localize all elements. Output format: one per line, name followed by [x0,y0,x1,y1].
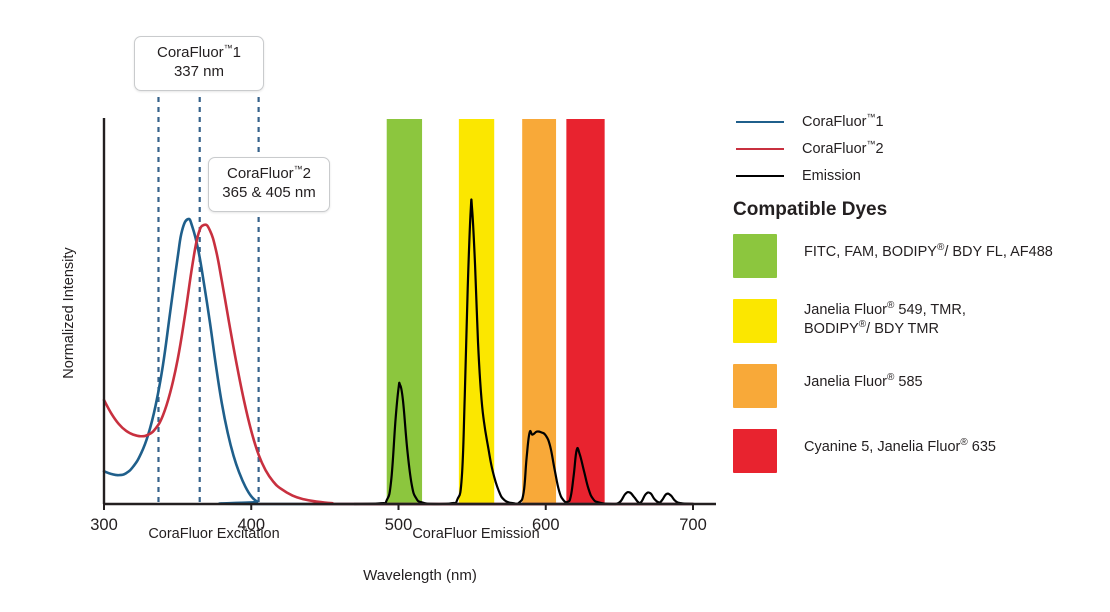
callout-1-line2: 337 nm [147,63,251,82]
dye-item-label: FITC, FAM, BODIPY®/ BDY FL, AF488 [804,234,1053,262]
dye-color-swatch [733,364,777,408]
compatible-dyes-title: Compatible Dyes [733,199,887,221]
dye-item: Janelia Fluor® 549, TMR,BODIPY®/ BDY TMR [733,299,1103,343]
legend-item: CoraFluor™2 [733,135,1093,162]
dye-item-label: Cyanine 5, Janelia Fluor® 635 [804,429,996,457]
green-band [387,119,422,504]
legend-line-swatch [736,175,784,177]
callout-2-line2: 365 & 405 nm [221,184,317,203]
legend-item: CoraFluor™1 [733,108,1093,135]
dye-color-swatch [733,429,777,473]
axis-section-excitation: CoraFluor Excitation [118,526,310,542]
callout-corafluor2: CoraFluor™2 365 & 405 nm [208,157,330,212]
legend-item-label: Emission [802,168,861,184]
x-tick-label-700: 700 [679,516,707,534]
legend-line-swatch [736,148,784,150]
dye-color-swatch [733,299,777,343]
series-legend: CoraFluor™1CoraFluor™2Emission [733,108,1093,189]
legend-line-swatch [736,121,784,123]
dye-item: FITC, FAM, BODIPY®/ BDY FL, AF488 [733,234,1103,278]
x-tick-label-300: 300 [90,516,118,534]
legend-item-label: CoraFluor™1 [802,114,884,130]
dye-item-label: Janelia Fluor® 549, TMR,BODIPY®/ BDY TMR [804,299,966,339]
y-axis-title: Normalized Intensity [61,218,77,408]
callout-1-line1: CoraFluor™1 [147,44,251,63]
red-band [566,119,604,504]
spectra-chart: 300400500600700 CoraFluor™1 337 nm CoraF… [0,0,730,612]
callout-corafluor1: CoraFluor™1 337 nm [134,36,264,91]
legend-item: Emission [733,162,1093,189]
chart-canvas: 300400500600700 [0,0,730,612]
axis-section-emission: CoraFluor Emission [380,526,572,542]
dye-color-swatch [733,234,777,278]
legend-item-label: CoraFluor™2 [802,141,884,157]
callout-2-line1: CoraFluor™2 [221,165,317,184]
dye-item-label: Janelia Fluor® 585 [804,364,923,392]
right-panel: CoraFluor™1CoraFluor™2Emission Compatibl… [730,0,1110,612]
x-axis-title: Wavelength (nm) [310,567,530,584]
dye-item: Janelia Fluor® 585 [733,364,1103,408]
compatible-dyes-list: FITC, FAM, BODIPY®/ BDY FL, AF488Janelia… [733,234,1103,494]
dye-item: Cyanine 5, Janelia Fluor® 635 [733,429,1103,473]
